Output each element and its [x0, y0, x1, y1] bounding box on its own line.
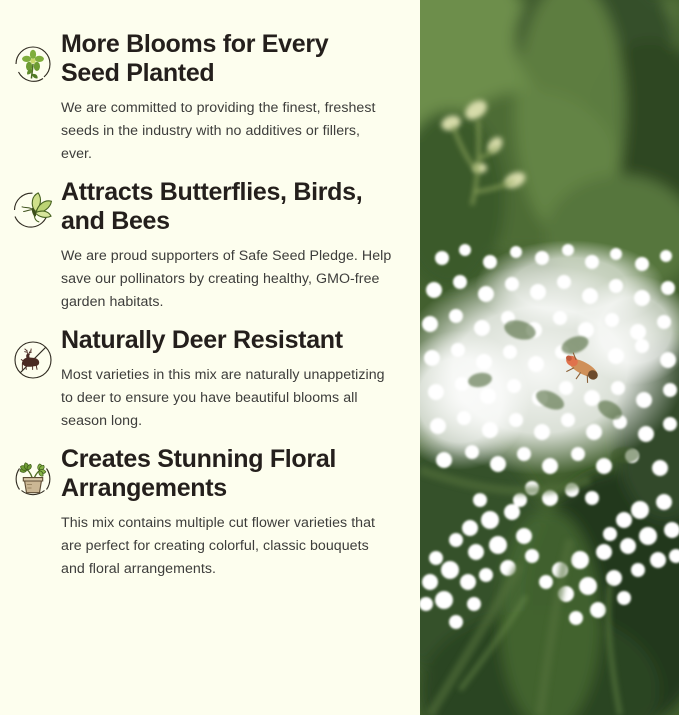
- potted-plant-in-circle-icon: [5, 445, 61, 503]
- product-photo: [420, 0, 679, 715]
- photo-illustration: [420, 0, 679, 715]
- feature-title: Attracts Butterflies, Birds, and Bees: [61, 178, 392, 236]
- feature-description: We are proud supporters of Safe Seed Ple…: [61, 245, 392, 314]
- feature-item-deer-resistant: Naturally Deer Resistant Most varieties …: [5, 326, 404, 433]
- butterfly-in-circle-icon: [5, 178, 61, 236]
- feature-description: We are committed to providing the finest…: [61, 97, 392, 166]
- feature-item-more-blooms: More Blooms for Every Seed Planted We ar…: [5, 30, 404, 166]
- feature-item-floral-arrangements: Creates Stunning Floral Arrangements Thi…: [5, 445, 404, 581]
- feature-description: This mix contains multiple cut flower va…: [61, 512, 392, 581]
- feature-title: More Blooms for Every Seed Planted: [61, 30, 392, 88]
- feature-text-block: More Blooms for Every Seed Planted We ar…: [61, 30, 404, 166]
- feature-text-block: Naturally Deer Resistant Most varieties …: [61, 326, 404, 433]
- deer-prohibited-in-circle-icon: [5, 326, 61, 384]
- product-feature-panel: More Blooms for Every Seed Planted We ar…: [0, 0, 679, 715]
- feature-text-block: Attracts Butterflies, Birds, and Bees We…: [61, 178, 404, 314]
- flower-in-circle-icon: [5, 30, 61, 88]
- feature-text-block: Creates Stunning Floral Arrangements Thi…: [61, 445, 404, 581]
- feature-description: Most varieties in this mix are naturally…: [61, 364, 392, 433]
- feature-item-attracts-pollinators: Attracts Butterflies, Birds, and Bees We…: [5, 178, 404, 314]
- features-list: More Blooms for Every Seed Planted We ar…: [0, 0, 420, 715]
- feature-title: Naturally Deer Resistant: [61, 326, 392, 355]
- feature-title: Creates Stunning Floral Arrangements: [61, 445, 392, 503]
